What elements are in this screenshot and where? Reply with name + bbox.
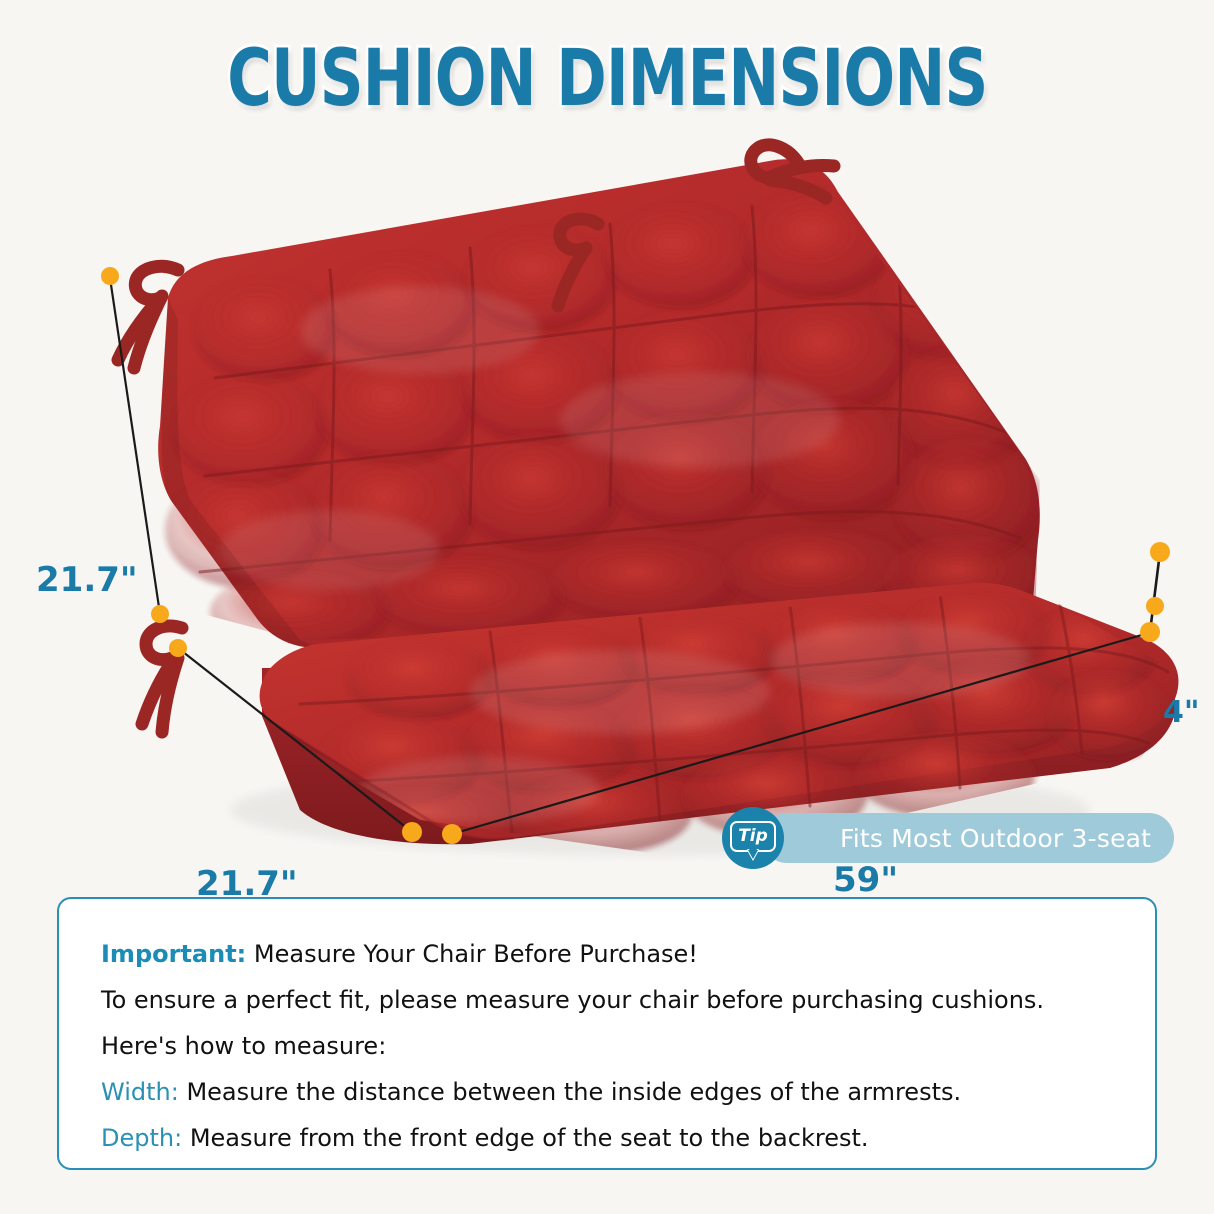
dimension-label-back-height: 21.7" [36, 560, 138, 600]
note-key-width: Width: [101, 1078, 179, 1106]
note-text: Measure from the front edge of the seat … [182, 1124, 868, 1152]
endpoint-dot [151, 605, 169, 623]
cushion-backrest [158, 159, 1045, 652]
page-title: CUSHION DIMENSIONS [0, 38, 1214, 120]
speech-bubble-tail-inner-icon [749, 849, 757, 856]
cushion-illustration: 21.7" 21.7" 59" 4" [0, 120, 1214, 880]
note-text: To ensure a perfect fit, please measure … [101, 986, 1044, 1014]
note-line: Here's how to measure: [101, 1023, 1115, 1069]
endpoint-dot [169, 639, 187, 657]
note-line: Depth: Measure from the front edge of th… [101, 1115, 1115, 1161]
endpoint-dot [1146, 597, 1164, 615]
endpoint-dot [101, 267, 119, 285]
endpoint-dot [402, 822, 422, 842]
measure-note-box: Important: Measure Your Chair Before Pur… [57, 897, 1157, 1170]
speech-bubble-icon: Tip [730, 821, 776, 852]
note-line: To ensure a perfect fit, please measure … [101, 977, 1115, 1023]
endpoint-dot [1140, 622, 1160, 642]
endpoint-dot [1150, 542, 1170, 562]
tip-text: Fits Most Outdoor 3-seat [840, 824, 1151, 853]
tip-pill: Fits Most Outdoor 3-seat [762, 813, 1174, 863]
note-line: Width: Measure the distance between the … [101, 1069, 1115, 1115]
note-key-important: Important: [101, 940, 246, 968]
infographic-page: CUSHION DIMENSIONS [0, 0, 1214, 1214]
note-text: Measure the distance between the inside … [179, 1078, 961, 1106]
note-text: Measure Your Chair Before Purchase! [246, 940, 698, 968]
endpoint-dot [442, 824, 462, 844]
dimension-line-thickness [1150, 552, 1160, 632]
tip-badge-label: Tip [738, 828, 768, 845]
note-text: Here's how to measure: [101, 1032, 386, 1060]
cushion-svg [0, 120, 1214, 880]
speech-bubble-tail-icon [747, 849, 759, 860]
note-key-depth: Depth: [101, 1124, 182, 1152]
dimension-label-seat-width: 59" [833, 860, 898, 900]
page-title-text: CUSHION DIMENSIONS [227, 38, 987, 120]
dimension-label-thickness: 4" [1163, 695, 1200, 730]
note-line: Important: Measure Your Chair Before Pur… [101, 931, 1115, 977]
tip-badge-icon: Tip [722, 807, 784, 869]
